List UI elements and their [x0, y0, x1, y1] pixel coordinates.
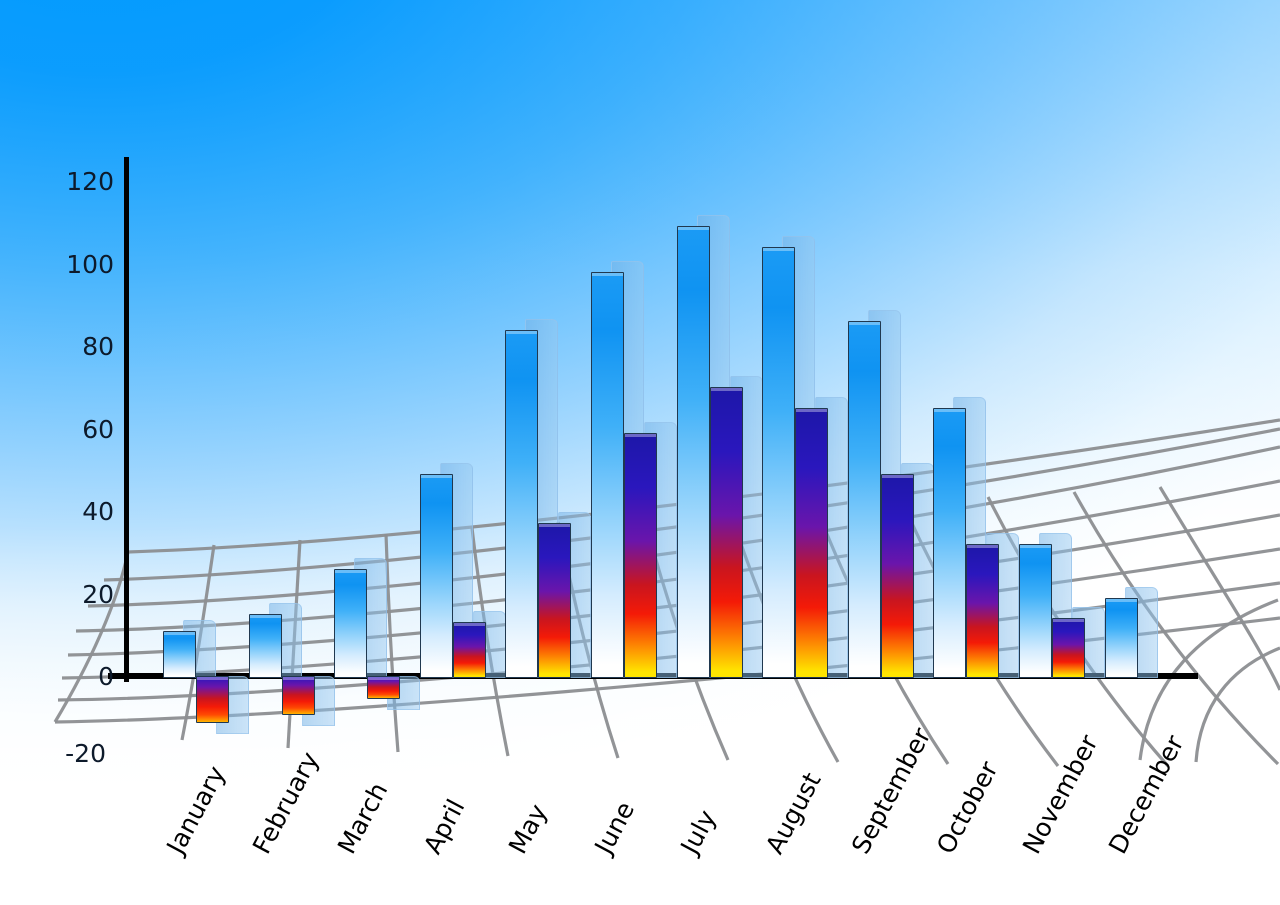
- bar-series1-august[interactable]: [762, 247, 795, 678]
- plot-area: 120 100 80 60 40 20 0 -20 JanuaryFebruar…: [0, 0, 1280, 905]
- x-label-january: January: [161, 761, 231, 858]
- bar-series2-november[interactable]: [1052, 618, 1085, 678]
- bar-series1-april-cap: [421, 475, 452, 478]
- x-label-june: June: [589, 797, 640, 859]
- x-label-may: May: [503, 799, 553, 858]
- bar-series1-october-cap: [934, 409, 965, 412]
- bar-series1-july[interactable]: [677, 226, 710, 678]
- x-label-october: October: [931, 757, 1004, 859]
- bar-series2-october-cap: [967, 545, 998, 548]
- y-tick-label-0: 0: [44, 662, 114, 691]
- bar-series2-january-cap: [197, 677, 228, 680]
- y-tick-label-20: 20: [44, 580, 114, 609]
- x-label-august: August: [760, 768, 827, 859]
- bar-series2-may[interactable]: [538, 523, 571, 678]
- bar-series1-march[interactable]: [334, 569, 367, 678]
- bar-series1-january[interactable]: [163, 631, 196, 678]
- bar-series1-march-cap: [335, 570, 366, 573]
- chart-canvas: 120 100 80 60 40 20 0 -20 JanuaryFebruar…: [0, 0, 1280, 905]
- bar-series2-may-cap: [539, 524, 570, 527]
- bar-series2-august-cap: [796, 409, 827, 412]
- bar-series2-july-cap: [711, 388, 742, 391]
- bar-series1-april[interactable]: [420, 474, 453, 678]
- x-label-march: March: [332, 778, 393, 859]
- x-label-february: February: [247, 747, 325, 858]
- bar-series1-october[interactable]: [933, 408, 966, 678]
- bar-series1-november[interactable]: [1019, 544, 1052, 678]
- bar-series2-february-cap: [283, 677, 314, 680]
- bar-series2-april-cap: [454, 623, 485, 626]
- bar-series1-december-cap: [1106, 599, 1137, 602]
- y-tick-label-80: 80: [44, 332, 114, 361]
- bar-series1-may[interactable]: [505, 330, 538, 679]
- bar-series2-october[interactable]: [966, 544, 999, 678]
- bar-series2-june[interactable]: [624, 433, 657, 678]
- y-tick-label-neg20: -20: [36, 739, 106, 768]
- bar-series1-december[interactable]: [1105, 598, 1138, 678]
- bar-series2-april[interactable]: [453, 622, 486, 678]
- bar-series1-november-cap: [1020, 545, 1051, 548]
- y-tick-label-60: 60: [44, 415, 114, 444]
- bar-series1-february[interactable]: [249, 614, 282, 678]
- y-tick-label-120: 120: [44, 167, 114, 196]
- bar-series2-march[interactable]: [367, 676, 400, 699]
- x-label-december: December: [1103, 731, 1189, 859]
- bar-series2-september[interactable]: [881, 474, 914, 678]
- bar-series2-march-cap: [368, 677, 399, 680]
- bar-series1-august-cap: [763, 248, 794, 251]
- bar-series2-november-cap: [1053, 619, 1084, 622]
- bar-series2-august[interactable]: [795, 408, 828, 678]
- bar-series1-may-cap: [506, 331, 537, 334]
- y-tick-label-40: 40: [44, 497, 114, 526]
- bar-series2-june-cap: [625, 434, 656, 437]
- x-label-april: April: [418, 795, 470, 859]
- y-tick-label-100: 100: [44, 250, 114, 279]
- bar-series2-september-cap: [882, 475, 913, 478]
- y-axis-line: [124, 157, 129, 682]
- x-label-november: November: [1017, 730, 1104, 858]
- bar-series2-january[interactable]: [196, 676, 229, 723]
- bar-series2-july[interactable]: [710, 387, 743, 678]
- x-label-september: September: [846, 723, 936, 859]
- bar-series1-june-cap: [592, 273, 623, 276]
- bar-series1-july-cap: [678, 227, 709, 230]
- bar-series1-january-cap: [164, 632, 195, 635]
- bar-series2-february[interactable]: [282, 676, 315, 715]
- bar-series1-february-cap: [250, 615, 281, 618]
- bar-series1-june[interactable]: [591, 272, 624, 678]
- x-label-july: July: [675, 805, 722, 858]
- bar-series1-september-cap: [849, 322, 880, 325]
- bar-series1-september[interactable]: [848, 321, 881, 678]
